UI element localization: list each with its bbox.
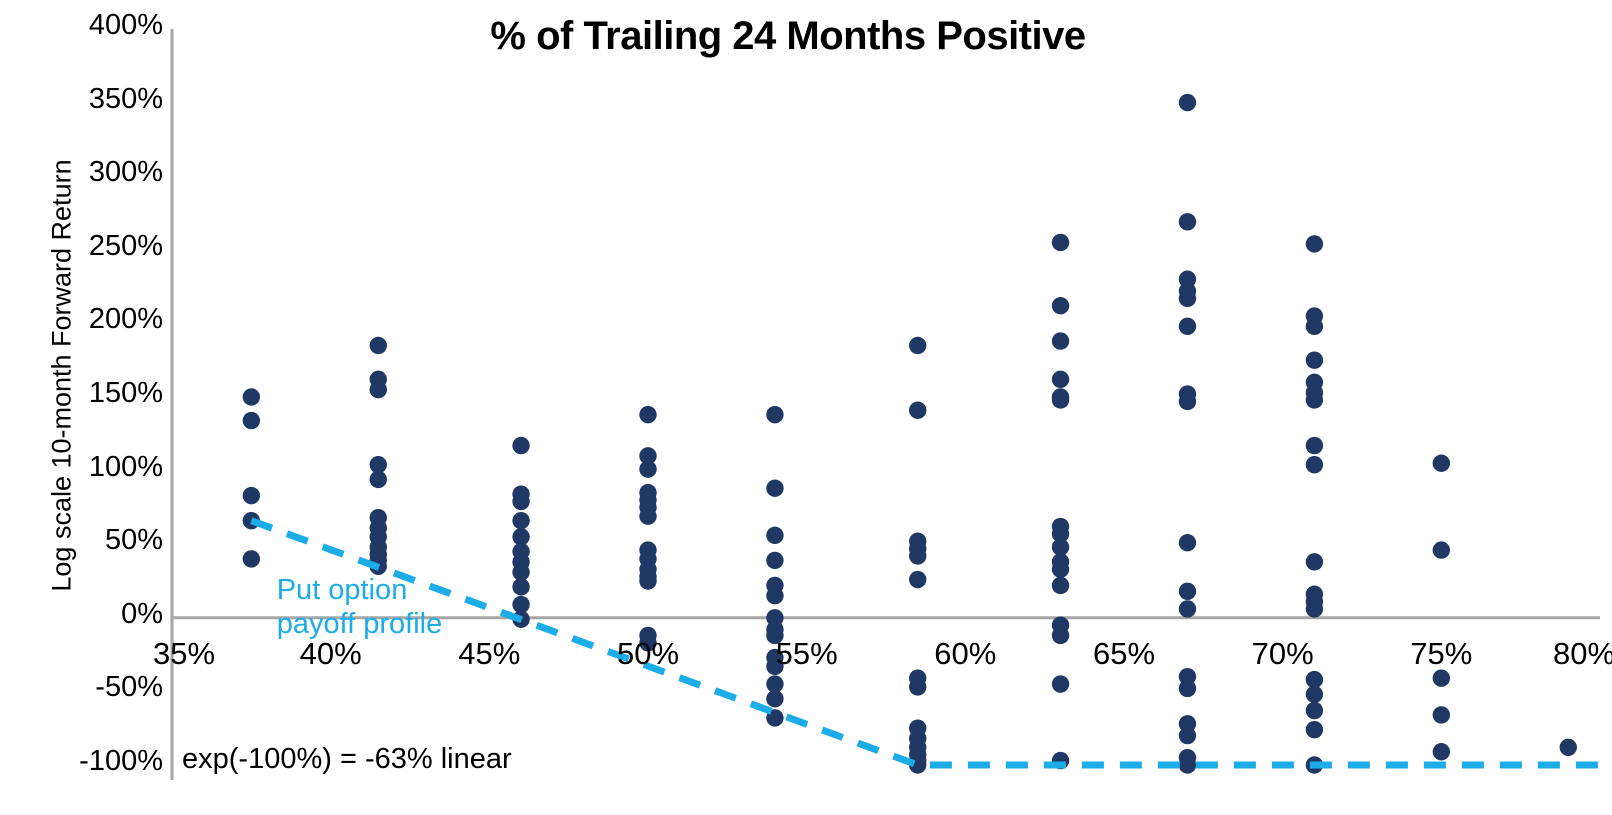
scatter-point	[1433, 541, 1450, 558]
scatter-point	[243, 487, 260, 504]
scatter-point	[1179, 727, 1196, 744]
scatter-point	[1052, 577, 1069, 594]
scatter-point	[1179, 680, 1196, 697]
scatter-point	[1306, 391, 1323, 408]
scatter-point	[639, 508, 656, 525]
scatter-point	[1433, 455, 1450, 472]
scatter-point	[243, 412, 260, 429]
scatter-point	[1306, 437, 1323, 454]
scatter-point	[1306, 235, 1323, 252]
x-tick-label: 50%	[617, 636, 679, 672]
scatter-point	[1179, 600, 1196, 617]
x-tick-label: 65%	[1093, 636, 1155, 672]
scatter-point	[512, 493, 529, 510]
exp-note-annotation: exp(-100%) = -63% linear	[182, 743, 512, 776]
scatter-point	[512, 512, 529, 529]
scatter-point	[370, 337, 387, 354]
x-tick-label: 45%	[458, 636, 520, 672]
scatter-point	[909, 402, 926, 419]
x-tick-label: 80%	[1553, 636, 1612, 672]
x-tick-label: 70%	[1252, 636, 1314, 672]
scatter-point	[370, 381, 387, 398]
x-tick-label: 75%	[1410, 636, 1472, 672]
scatter-point	[1179, 290, 1196, 307]
scatter-point	[1433, 743, 1450, 760]
scatter-point	[1560, 739, 1577, 756]
put-option-annotation-line2: payoff profile	[277, 607, 443, 641]
scatter-point	[1052, 561, 1069, 578]
scatter-point	[1052, 297, 1069, 314]
plot-area	[0, 0, 1612, 815]
scatter-point	[766, 552, 783, 569]
scatter-point	[1052, 675, 1069, 692]
scatter-point	[1306, 600, 1323, 617]
scatter-point	[1433, 669, 1450, 686]
scatter-point	[1052, 371, 1069, 388]
scatter-point	[1179, 534, 1196, 551]
scatter-point	[766, 480, 783, 497]
scatter-point	[1052, 627, 1069, 644]
scatter-point	[1052, 234, 1069, 251]
scatter-point	[766, 406, 783, 423]
scatter-point	[1306, 721, 1323, 738]
x-tick-label: 35%	[153, 636, 215, 672]
scatter-point	[1306, 456, 1323, 473]
scatter-point	[1306, 318, 1323, 335]
scatter-points	[243, 94, 1577, 774]
scatter-point	[512, 437, 529, 454]
scatter-point	[1179, 756, 1196, 773]
scatter-point	[639, 406, 656, 423]
put-option-annotation: Put option payoff profile	[277, 573, 443, 641]
x-tick-label: 55%	[776, 636, 838, 672]
scatter-point	[243, 388, 260, 405]
scatter-point	[1306, 352, 1323, 369]
scatter-point	[1179, 583, 1196, 600]
scatter-point	[909, 571, 926, 588]
chart-container: % of Trailing 24 Months Positive Log sca…	[0, 0, 1612, 815]
scatter-point	[1052, 332, 1069, 349]
scatter-point	[766, 587, 783, 604]
scatter-point	[909, 547, 926, 564]
x-tick-label: 60%	[934, 636, 996, 672]
scatter-point	[1179, 94, 1196, 111]
scatter-point	[1433, 706, 1450, 723]
scatter-point	[909, 678, 926, 695]
scatter-point	[639, 572, 656, 589]
axis-lines	[172, 29, 1600, 780]
scatter-point	[1306, 686, 1323, 703]
scatter-point	[1306, 702, 1323, 719]
scatter-point	[1179, 318, 1196, 335]
scatter-point	[1306, 553, 1323, 570]
scatter-point	[766, 527, 783, 544]
scatter-point	[370, 471, 387, 488]
scatter-point	[639, 460, 656, 477]
put-option-annotation-line1: Put option	[277, 573, 443, 607]
scatter-point	[512, 578, 529, 595]
scatter-point	[1052, 391, 1069, 408]
scatter-point	[909, 337, 926, 354]
scatter-point	[243, 550, 260, 567]
scatter-point	[766, 690, 783, 707]
scatter-point	[1179, 213, 1196, 230]
scatter-point	[1179, 393, 1196, 410]
